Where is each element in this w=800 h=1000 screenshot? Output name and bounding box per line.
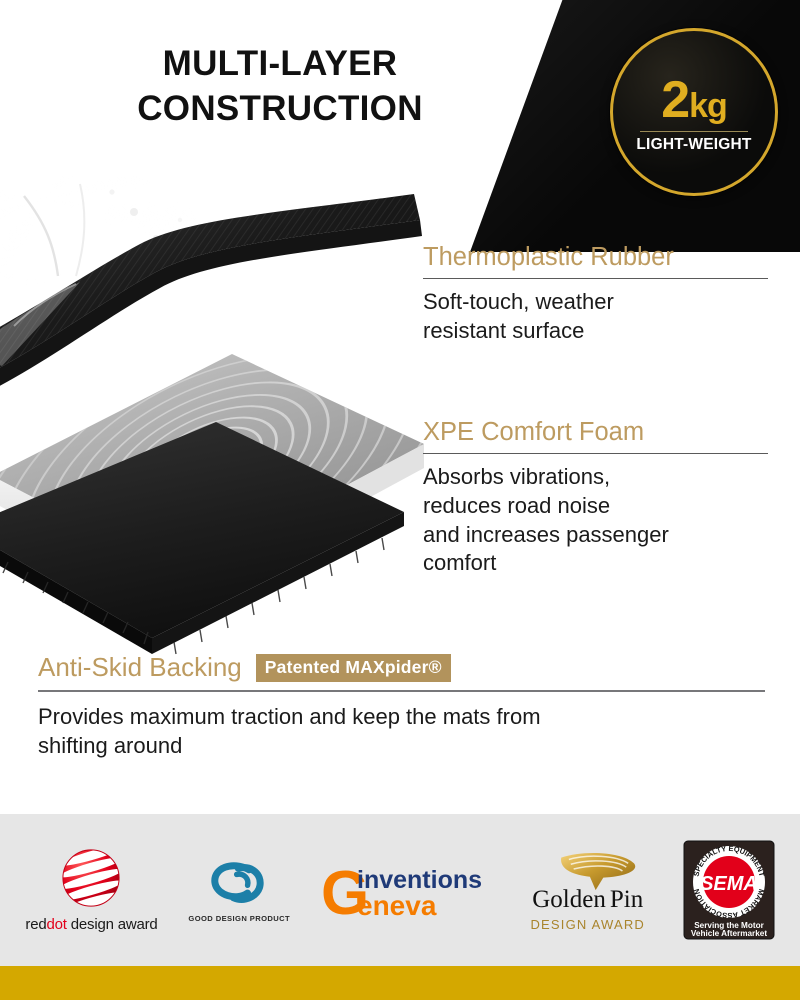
awards-strip: reddot design award GOOD DESIGN PRODUCT … <box>0 814 800 966</box>
feature-divider <box>423 453 768 454</box>
reddot-label: reddot design award <box>25 916 157 933</box>
inventions-geneva-logo: G inventions eneva <box>321 858 493 922</box>
inventions-geneva-icon: G inventions eneva <box>321 858 493 922</box>
weight-value: 2kg <box>661 76 727 125</box>
feature-body: Absorbs vibrations, reduces road noise a… <box>423 463 768 577</box>
good-design-gd-icon <box>204 858 274 908</box>
good-design-label: GOOD DESIGN PRODUCT <box>188 914 290 923</box>
golden-pin-subtitle: DESIGN AWARD <box>530 917 645 932</box>
anti-skid-divider <box>38 690 765 692</box>
feature-heading: Thermoplastic Rubber <box>423 243 768 272</box>
feature-body: Soft-touch, weather resistant surface <box>423 288 768 345</box>
award-inventions-geneva: G inventions eneva <box>321 858 493 922</box>
feature-xpe-comfort-foam: XPE Comfort Foam Absorbs vibrations, red… <box>423 418 768 578</box>
svg-text:Vehicle Aftermarket: Vehicle Aftermarket <box>690 929 766 938</box>
anti-skid-heading: Anti-Skid Backing <box>38 652 242 683</box>
sema-seal-icon: SPECIALTY EQUIPMENT MARKET ASSOCIATION S… <box>683 840 775 940</box>
bottom-gold-bar <box>0 966 800 1000</box>
feature-heading: XPE Comfort Foam <box>423 418 768 447</box>
golden-word: Golden <box>532 886 606 914</box>
feature-thermoplastic-rubber: Thermoplastic Rubber Soft-touch, weather… <box>423 243 768 346</box>
eneva-word: eneva <box>357 890 437 921</box>
title-line-2: CONSTRUCTION <box>0 87 560 132</box>
badge-caption: LIGHT-WEIGHT <box>636 136 751 154</box>
sema-acronym: SEMA <box>700 873 758 895</box>
page-title: MULTI-LAYER CONSTRUCTION <box>0 42 560 132</box>
title-line-1: MULTI-LAYER <box>0 42 560 87</box>
reddot-sphere-icon <box>60 847 122 909</box>
award-sema-association: SPECIALTY EQUIPMENT MARKET ASSOCIATION S… <box>683 840 775 940</box>
exploded-mat-illustration <box>0 176 424 656</box>
feature-anti-skid-backing: Anti-Skid Backing Patented MAXpider® Pro… <box>38 652 765 760</box>
feature-divider <box>423 278 768 279</box>
award-golden-pin-design-award: Golden Pin DESIGN AWARD <box>524 848 652 932</box>
patented-maxpider-badge: Patented MAXpider® <box>256 654 451 682</box>
anti-skid-body: Provides maximum traction and keep the m… <box>38 702 765 760</box>
light-weight-badge: 2kg LIGHT-WEIGHT <box>610 28 778 196</box>
award-reddot-design-award: reddot design award <box>25 847 157 933</box>
pin-word: Pin <box>610 886 643 914</box>
badge-divider <box>640 131 748 132</box>
award-good-design-product: GOOD DESIGN PRODUCT <box>188 858 290 923</box>
